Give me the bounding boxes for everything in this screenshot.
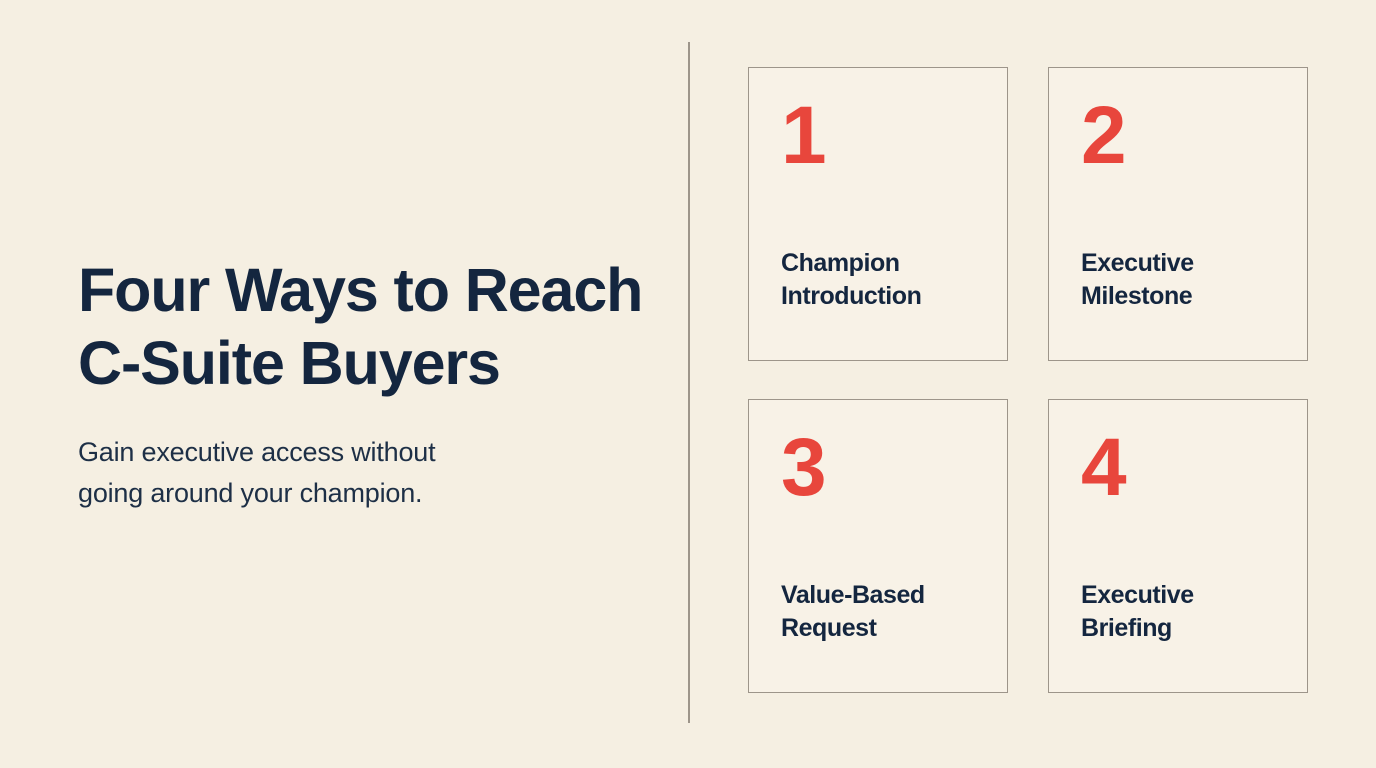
card-champion-introduction[interactable]: 1 Champion Introduction [748, 67, 1008, 361]
card-label: Executive Briefing [1081, 579, 1279, 666]
card-label: Value-Based Request [781, 579, 979, 666]
vertical-divider [688, 42, 690, 723]
card-executive-briefing[interactable]: 4 Executive Briefing [1048, 399, 1308, 693]
page-subtitle: Gain executive access without going arou… [78, 432, 435, 514]
card-value-based-request[interactable]: 3 Value-Based Request [748, 399, 1008, 693]
page-title: Four Ways to Reach C-Suite Buyers [78, 254, 642, 400]
numbered-card-grid: 1 Champion Introduction 2 Executive Mile… [748, 67, 1316, 701]
card-executive-milestone[interactable]: 2 Executive Milestone [1048, 67, 1308, 361]
card-label: Champion Introduction [781, 247, 979, 334]
card-number-badge: 1 [781, 98, 979, 184]
card-number-badge: 2 [1081, 98, 1279, 184]
slide-canvas: Four Ways to Reach C-Suite Buyers Gain e… [0, 0, 1376, 768]
card-label: Executive Milestone [1081, 247, 1279, 334]
headline-block: Four Ways to Reach C-Suite Buyers Gain e… [78, 0, 668, 768]
card-number-badge: 4 [1081, 430, 1279, 516]
card-number-badge: 3 [781, 430, 979, 516]
